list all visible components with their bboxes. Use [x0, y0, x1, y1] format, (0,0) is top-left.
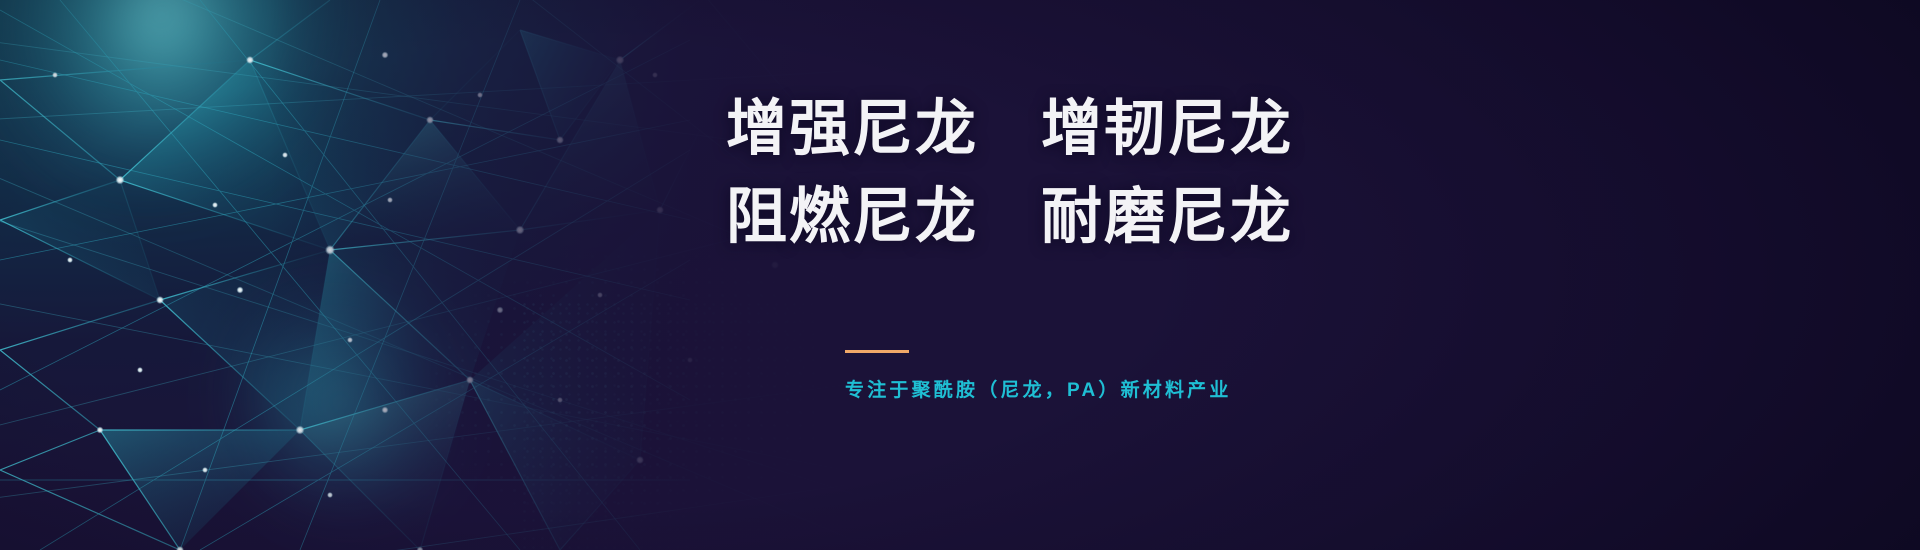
- right-side-overlay: [0, 0, 1920, 550]
- subtitle-text: 专注于聚酰胺（尼龙，PA）新材料产业: [845, 375, 1645, 402]
- headline-block: 增强尼龙 增韧尼龙 阻燃尼龙 耐磨尼龙: [726, 84, 1726, 260]
- hero-banner: 增强尼龙 增韧尼龙 阻燃尼龙 耐磨尼龙 专注于聚酰胺（尼龙，PA）新材料产业: [0, 0, 1920, 550]
- orange-rule-divider: [845, 350, 909, 353]
- subtitle-block: 专注于聚酰胺（尼龙，PA）新材料产业: [845, 350, 1645, 402]
- headline-line-1: 增强尼龙 增韧尼龙: [726, 84, 1726, 172]
- headline-line-2: 阻燃尼龙 耐磨尼龙: [726, 172, 1726, 260]
